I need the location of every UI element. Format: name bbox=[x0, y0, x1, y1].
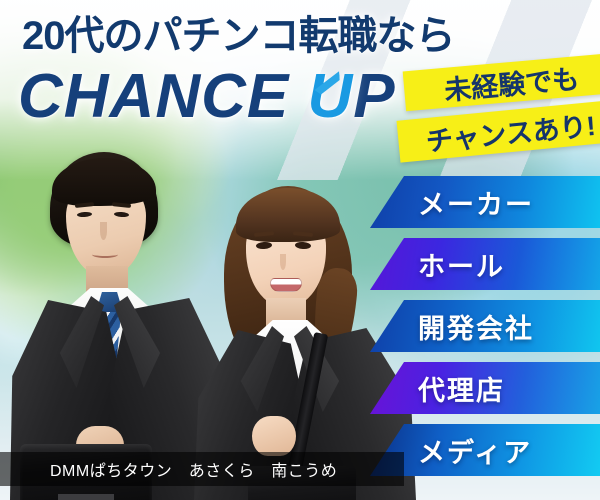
briefcase-studs bbox=[58, 494, 114, 500]
logo-p-letter: P bbox=[353, 62, 395, 131]
woman-hand bbox=[252, 416, 296, 456]
people-photo-group bbox=[0, 140, 430, 500]
credit-strip: DMMぱちタウン あさくら 南こうめ bbox=[0, 452, 404, 486]
category-tag-agency[interactable]: 代理店 bbox=[370, 362, 600, 414]
woman-nose bbox=[280, 254, 286, 270]
businessman-figure bbox=[14, 150, 224, 500]
woman-smile bbox=[270, 278, 302, 292]
category-tag-media[interactable]: メディア bbox=[370, 424, 600, 476]
category-tag-list: メーカー ホール 開発会社 代理店 メディア bbox=[370, 176, 600, 486]
category-tag-development-company[interactable]: 開発会社 bbox=[370, 300, 600, 352]
category-tag-media-label: メディア bbox=[418, 431, 532, 470]
credit-text: DMMぱちタウン あさくら 南こうめ bbox=[50, 457, 337, 481]
logo-chance-text: CHANCE bbox=[18, 62, 289, 131]
category-tag-hall-label: ホール bbox=[418, 245, 505, 284]
category-tag-maker-label: メーカー bbox=[418, 183, 534, 222]
category-tag-development-company-label: 開発会社 bbox=[418, 307, 534, 346]
woman-fringe bbox=[236, 188, 340, 242]
man-mouth bbox=[92, 251, 118, 258]
man-nose bbox=[100, 222, 107, 240]
recruitment-banner[interactable]: 20代のパチンコ転職なら CHANCE UP 未経験でも チャンスあり! メーカ… bbox=[0, 0, 600, 500]
category-tag-maker[interactable]: メーカー bbox=[370, 176, 600, 228]
category-tag-hall[interactable]: ホール bbox=[370, 238, 600, 290]
category-tag-agency-label: 代理店 bbox=[418, 369, 505, 408]
headline-line-1: 20代のパチンコ転職なら bbox=[22, 16, 455, 56]
logo-u-letter: U bbox=[307, 62, 353, 131]
